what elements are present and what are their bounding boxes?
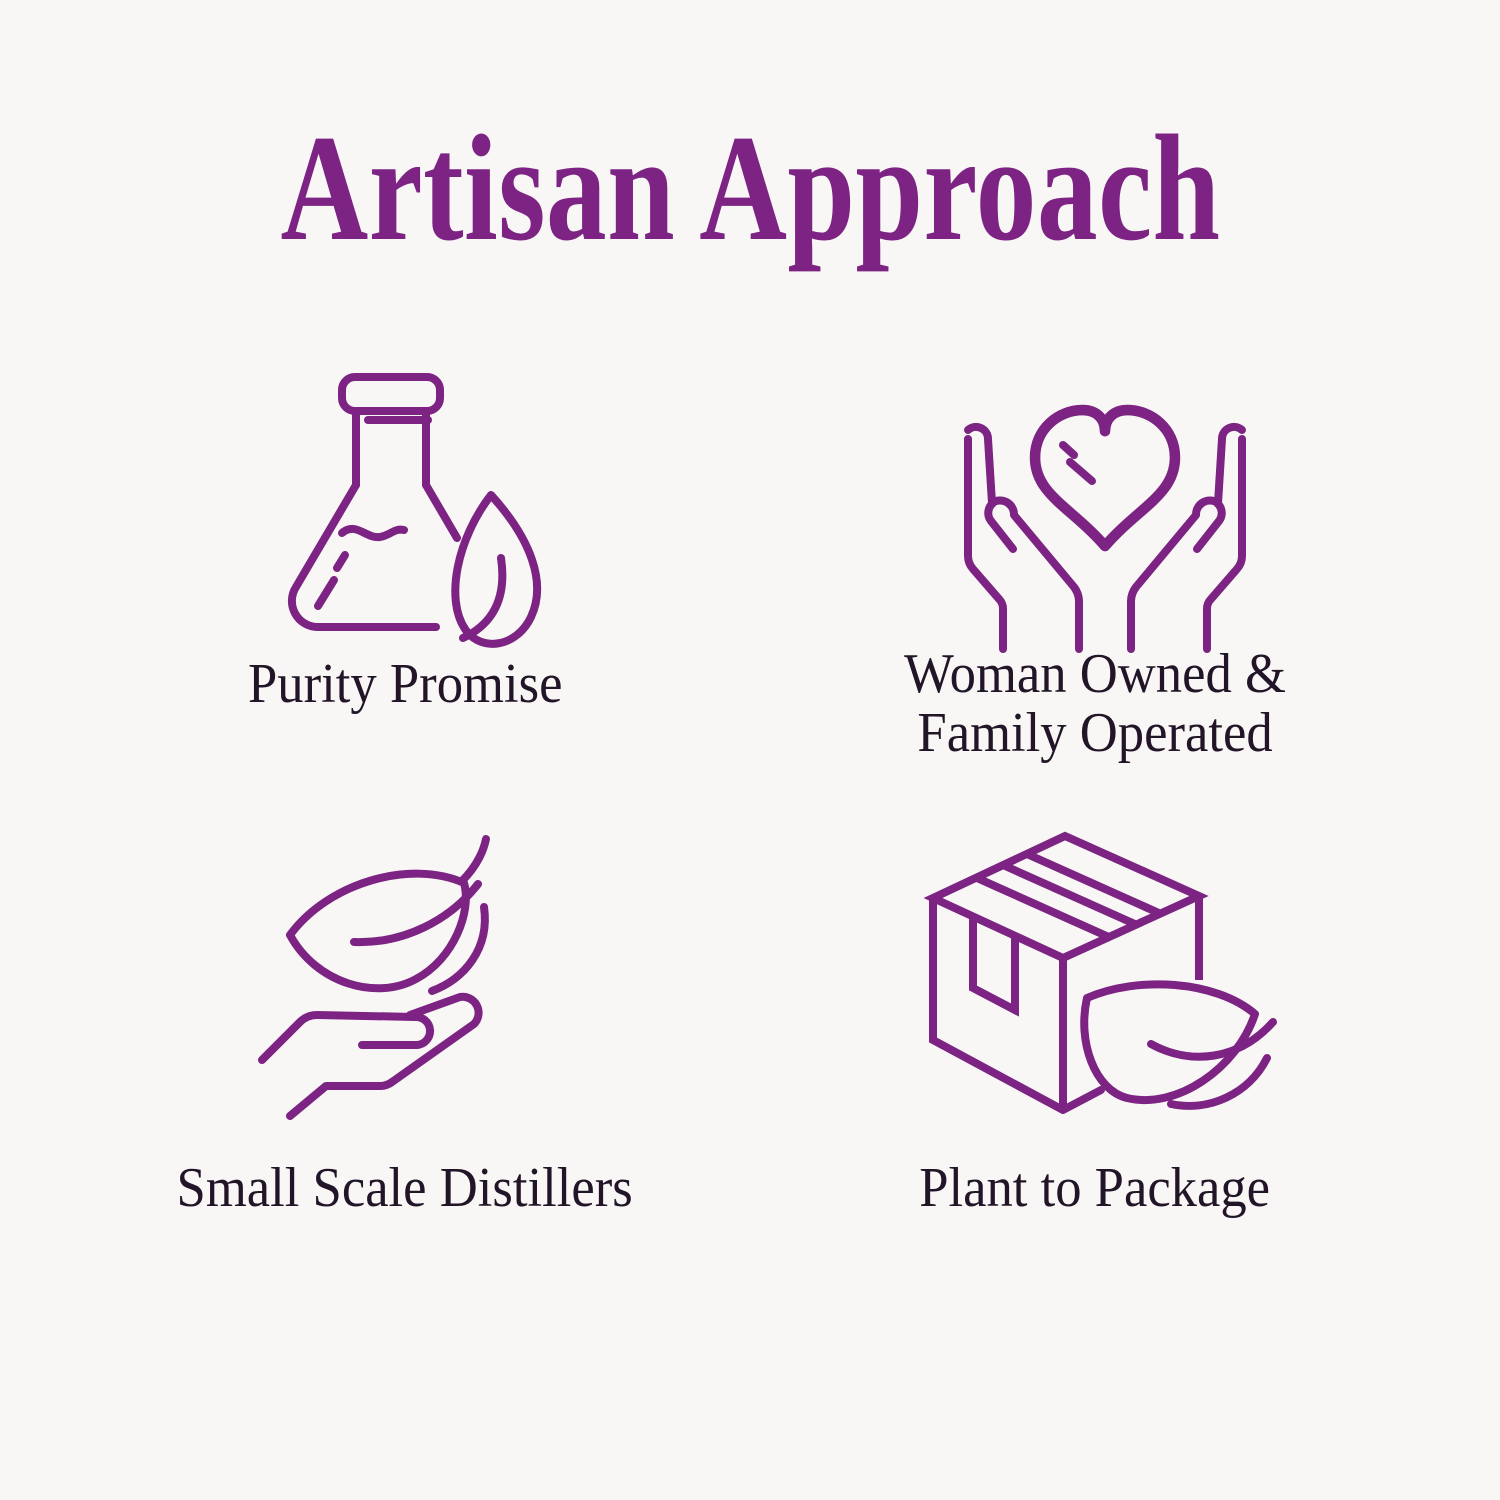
artisan-approach-infographic: Artisan Approach (0, 0, 1500, 1500)
feature-woman-owned: Woman Owned & Family Operated (750, 345, 1440, 815)
feature-small-scale-distillers: Small Scale Distillers (60, 815, 750, 1285)
feature-label: Purity Promise (248, 655, 562, 714)
flask-leaf-icon (280, 355, 570, 655)
feature-label: Woman Owned & Family Operated (904, 645, 1286, 764)
feature-label: Plant to Package (920, 1159, 1271, 1218)
feature-grid: Purity Promise (60, 345, 1440, 1285)
feature-plant-to-package: Plant to Package (750, 815, 1440, 1285)
page-title: Artisan Approach (280, 112, 1220, 264)
feature-label: Small Scale Distillers (177, 1159, 633, 1218)
hands-heart-icon (940, 370, 1270, 670)
hand-leaf-icon (250, 823, 530, 1123)
page-title-container: Artisan Approach (0, 112, 1500, 264)
box-leaf-icon (915, 823, 1315, 1123)
feature-purity-promise: Purity Promise (60, 345, 750, 815)
